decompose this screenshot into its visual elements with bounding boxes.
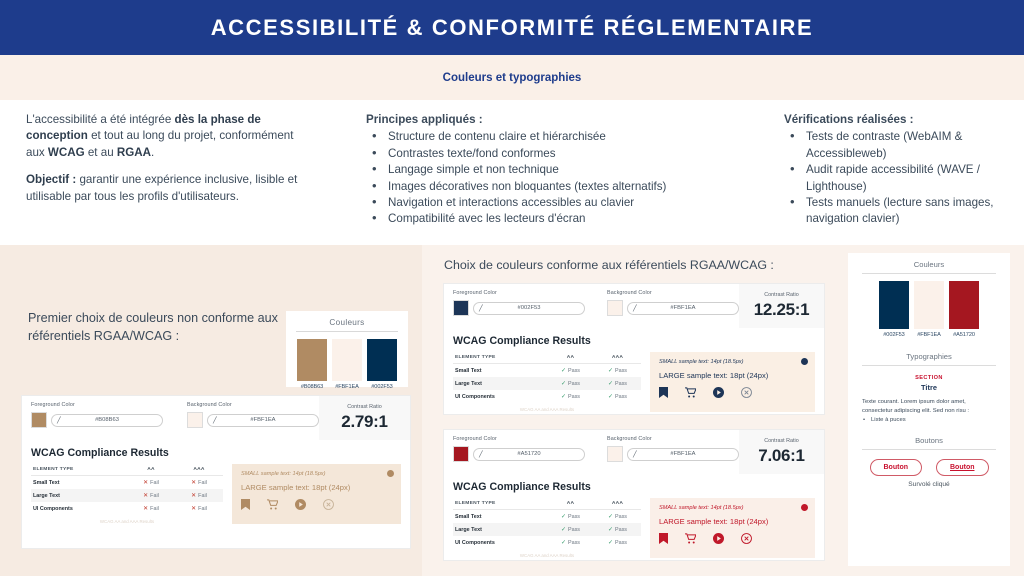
context-paragraph-2: Objectif : garantir une expérience inclu…: [26, 172, 311, 205]
pass-icon: ✓: [561, 381, 566, 387]
table-row: Small Text ✕Fail ✕Fail: [31, 476, 223, 490]
background-value: #FBF1EA: [628, 451, 738, 457]
sample-icon-row: [659, 387, 806, 398]
sample-large-text: LARGE sample text: 18pt (24px): [659, 371, 806, 380]
divider: [862, 449, 996, 450]
divider: [296, 331, 398, 332]
wcag-results-table: ELEMENT TYPE AA AAA Small Text ✓Pass ✓Pa…: [453, 498, 641, 549]
background-field-group: Background Color ╱ #FBF1EA: [607, 436, 739, 474]
principles-heading: Principes appliqués :: [366, 112, 766, 128]
background-input[interactable]: ╱ #FBF1EA: [627, 302, 739, 315]
close-circle-icon[interactable]: [741, 533, 752, 544]
button-default[interactable]: Bouton: [870, 459, 923, 476]
middle-panel-heading: Choix de couleurs conforme aux référenti…: [444, 258, 774, 272]
fail-icon: ✕: [191, 506, 196, 512]
contrast-ratio-label: Contrast Ratio: [764, 292, 798, 298]
wcag-results-table: ELEMENT TYPE AA AAA Small Text ✓Pass ✓Pa…: [453, 352, 641, 403]
intro-column-verifications: Vérifications réalisées : Tests de contr…: [784, 112, 1009, 228]
pass-icon: ✓: [608, 514, 613, 520]
results-title: WCAG Compliance Results: [453, 481, 815, 493]
list-item: Tests manuels (lecture sans images, navi…: [784, 195, 1009, 228]
row-aaa-result: ✓Pass: [594, 377, 641, 390]
verifications-heading: Vérifications réalisées :: [784, 112, 1009, 128]
col-header-aaa: AAA: [594, 498, 641, 510]
contrast-ratio-value: 12.25:1: [754, 300, 810, 320]
list-item: Langage simple et non technique: [366, 162, 766, 178]
row-aaa-result: ✕Fail: [175, 502, 223, 515]
row-element-type: UI Components: [453, 536, 547, 549]
table-row: Large Text ✓Pass ✓Pass: [453, 377, 641, 390]
swatch-hex-label: #002F53: [879, 332, 909, 338]
results-title: WCAG Compliance Results: [31, 447, 401, 459]
results-title: WCAG Compliance Results: [453, 335, 815, 347]
palette-swatch: #002F53: [367, 339, 397, 390]
cart-icon[interactable]: [685, 533, 696, 544]
table-row: Large Text ✕Fail ✕Fail: [31, 489, 223, 502]
table-footnote: WCAG AA and AAA Results: [31, 519, 223, 524]
ctx-p1-a: L'accessibilité a été intégrée: [26, 113, 175, 126]
sidebar-buttons-title: Boutons: [848, 436, 1010, 445]
background-field-group: Background Color ╱ #FBF1EA: [607, 290, 739, 328]
swatch-hex-label: #FBF1EA: [914, 332, 944, 338]
row-aaa-result: ✓Pass: [594, 536, 641, 549]
ctx-p1-d: .: [151, 146, 154, 159]
row-aaa-result: ✓Pass: [594, 390, 641, 403]
list-item: Images décoratives non bloquantes (texte…: [366, 179, 766, 195]
foreground-field-group: Foreground Color ╱ #B08B63: [31, 402, 163, 440]
page-title: ACCESSIBILITÉ & CONFORMITÉ RÉGLEMENTAIRE: [211, 15, 814, 41]
row-aaa-result: ✓Pass: [594, 510, 641, 524]
page-subtitle: Couleurs et typographies: [443, 72, 582, 84]
contrast-ratio-label: Contrast Ratio: [764, 438, 798, 444]
swatch-hex-label: #A51720: [949, 332, 979, 338]
sample-icon-row: [241, 499, 392, 510]
foreground-label: Foreground Color: [31, 402, 163, 408]
sample-large-text: LARGE sample text: 18pt (24px): [241, 483, 392, 492]
row-aa-result: ✓Pass: [547, 390, 594, 403]
ctx-p1-bold-3: RGAA: [117, 146, 151, 159]
list-item: Navigation et interactions accessibles a…: [366, 195, 766, 211]
fail-icon: ✕: [143, 480, 148, 486]
fail-icon: ✕: [191, 480, 196, 486]
typo-list-sample: Liste à puces: [862, 417, 996, 423]
contrast-checker-card-noncompliant: Foreground Color ╱ #B08B63 Background Co…: [22, 396, 410, 548]
background-label: Background Color: [607, 290, 739, 296]
intro-region: L'accessibilité a été intégrée dès la ph…: [0, 100, 1024, 245]
table-footnote: WCAG AA and AAA Results: [453, 553, 641, 558]
contrast-ratio-label: Contrast Ratio: [347, 404, 381, 410]
background-label: Background Color: [187, 402, 319, 408]
pass-icon: ✓: [561, 527, 566, 533]
foreground-input[interactable]: ╱ #002F53: [473, 302, 585, 315]
swatch-chip: [949, 281, 979, 329]
foreground-swatch[interactable]: [453, 300, 469, 316]
foreground-input[interactable]: ╱ #B08B63: [51, 414, 163, 427]
list-item: Tests de contraste (WebAIM & Accessiblew…: [784, 129, 1009, 162]
row-aa-result: ✓Pass: [547, 377, 594, 390]
col-header-aaa: AAA: [594, 352, 641, 364]
swatch-hex-label: #B08B63: [297, 384, 327, 390]
col-header-element-type: ELEMENT TYPE: [31, 464, 127, 476]
sidebar-typography-section: Typographies SECTION Titre Texte courant…: [848, 352, 1010, 423]
col-header-element-type: ELEMENT TYPE: [453, 352, 547, 364]
background-input[interactable]: ╱ #FBF1EA: [207, 414, 319, 427]
row-element-type: Large Text: [31, 489, 127, 502]
results-table-wrap: ELEMENT TYPE AA AAA Small Text ✕Fail ✕Fa…: [31, 464, 223, 524]
swatch-chip: [297, 339, 327, 381]
list-item: Contrastes texte/fond conformes: [366, 146, 766, 162]
contrast-checker-card-red: Foreground Color ╱ #A51720 Background Co…: [444, 430, 824, 560]
sample-small-text: SMALL sample text: 14pt (18.5px): [659, 505, 806, 511]
objectif-label: Objectif :: [26, 173, 76, 186]
sample-large-text: LARGE sample text: 18pt (24px): [659, 517, 806, 526]
pass-icon: ✓: [608, 368, 613, 374]
pass-icon: ✓: [608, 527, 613, 533]
pass-icon: ✓: [561, 394, 566, 400]
context-paragraph-1: L'accessibilité a été intégrée dès la ph…: [26, 112, 311, 161]
wcag-results-table: ELEMENT TYPE AA AAA Small Text ✕Fail ✕Fa…: [31, 464, 223, 515]
row-aaa-result: ✕Fail: [175, 476, 223, 490]
background-swatch[interactable]: [607, 446, 623, 462]
pass-icon: ✓: [608, 394, 613, 400]
play-circle-icon[interactable]: [713, 533, 724, 544]
info-dot-icon[interactable]: [387, 470, 394, 477]
bookmark-icon[interactable]: [659, 533, 668, 544]
results-table-wrap: ELEMENT TYPE AA AAA Small Text ✓Pass ✓Pa…: [453, 352, 641, 412]
checker-body: WCAG Compliance Results ELEMENT TYPE AA …: [444, 328, 824, 418]
row-aa-result: ✕Fail: [127, 476, 175, 490]
row-aa-result: ✓Pass: [547, 510, 594, 524]
palette-swatch: #B08B63: [297, 339, 327, 390]
row-aaa-result: ✓Pass: [594, 523, 641, 536]
checker-header: Foreground Color ╱ #B08B63 Background Co…: [22, 396, 410, 440]
foreground-value: #A51720: [474, 451, 584, 457]
sidebar-buttons-section: Boutons Bouton Bouton Survolé cliqué: [848, 436, 1010, 488]
fail-icon: ✕: [143, 493, 148, 499]
sidebar-typo-title: Typographies: [848, 352, 1010, 361]
background-swatch[interactable]: [187, 412, 203, 428]
close-circle-icon[interactable]: [323, 499, 334, 510]
sample-small-text: SMALL sample text: 14pt (18.5px): [659, 359, 806, 365]
table-row: UI Components ✓Pass ✓Pass: [453, 390, 641, 403]
row-element-type: UI Components: [453, 390, 547, 403]
col-header-aa: AA: [547, 498, 594, 510]
row-aa-result: ✕Fail: [127, 502, 175, 515]
col-header-aaa: AAA: [175, 464, 223, 476]
pass-icon: ✓: [561, 368, 566, 374]
style-guide-sidebar: Couleurs #002F53 #FBF1EA #A51720 Typogra…: [848, 253, 1010, 566]
sample-preview-box: SMALL sample text: 14pt (18.5px) LARGE s…: [650, 498, 815, 558]
table-row: Small Text ✓Pass ✓Pass: [453, 510, 641, 524]
col-header-aa: AA: [547, 352, 594, 364]
contrast-checker-card-navy: Foreground Color ╱ #002F53 Background Co…: [444, 284, 824, 414]
background-input[interactable]: ╱ #FBF1EA: [627, 448, 739, 461]
col-header-element-type: ELEMENT TYPE: [453, 498, 547, 510]
cart-icon[interactable]: [267, 499, 278, 510]
contrast-ratio-value: 7.06:1: [758, 446, 804, 466]
divider: [862, 273, 996, 274]
palette-swatch: #002F53: [879, 281, 909, 338]
col-header-aa: AA: [127, 464, 175, 476]
checker-header: Foreground Color ╱ #002F53 Background Co…: [444, 284, 824, 328]
fail-icon: ✕: [143, 506, 148, 512]
table-footnote: WCAG AA and AAA Results: [453, 407, 641, 412]
results-table-wrap: ELEMENT TYPE AA AAA Small Text ✓Pass ✓Pa…: [453, 498, 641, 558]
close-circle-icon[interactable]: [741, 387, 752, 398]
foreground-label: Foreground Color: [453, 290, 585, 296]
row-aa-result: ✓Pass: [547, 523, 594, 536]
typo-heading-sample: Titre: [862, 383, 996, 392]
verifications-list: Tests de contraste (WebAIM & Accessiblew…: [784, 129, 1009, 227]
foreground-swatch[interactable]: [453, 446, 469, 462]
palette-swatch: #FBF1EA: [332, 339, 362, 390]
checker-header: Foreground Color ╱ #A51720 Background Co…: [444, 430, 824, 474]
swatch-chip: [367, 339, 397, 381]
info-dot-icon[interactable]: [801, 358, 808, 365]
foreground-value: #002F53: [474, 305, 584, 311]
slide-title-bar: ACCESSIBILITÉ & CONFORMITÉ RÉGLEMENTAIRE: [0, 0, 1024, 55]
swatch-hex-label: #FBF1EA: [332, 384, 362, 390]
pass-icon: ✓: [561, 540, 566, 546]
row-element-type: Small Text: [31, 476, 127, 490]
typo-body-sample: Texte courant. Lorem ipsum dolor amet, c…: [862, 398, 996, 415]
bookmark-icon[interactable]: [241, 499, 250, 510]
palette-swatch: #FBF1EA: [914, 281, 944, 338]
play-circle-icon[interactable]: [713, 387, 724, 398]
info-dot-icon[interactable]: [801, 504, 808, 511]
background-swatch[interactable]: [607, 300, 623, 316]
play-circle-icon[interactable]: [295, 499, 306, 510]
background-value: #FBF1EA: [208, 417, 318, 423]
ctx-p1-c: et au: [85, 146, 117, 159]
intro-column-context: L'accessibilité a été intégrée dès la ph…: [26, 112, 311, 216]
row-element-type: Large Text: [453, 523, 547, 536]
sidebar-swatch-row: #002F53 #FBF1EA #A51720: [848, 281, 1010, 338]
contrast-ratio-block: Contrast Ratio 7.06:1: [739, 430, 824, 474]
row-aaa-result: ✓Pass: [594, 364, 641, 378]
cart-icon[interactable]: [685, 387, 696, 398]
button-hover-clicked[interactable]: Bouton: [936, 459, 989, 476]
background-field-group: Background Color ╱ #FBF1EA: [187, 402, 319, 440]
buttons-caption: Survolé cliqué: [848, 481, 1010, 488]
pass-icon: ✓: [608, 381, 613, 387]
table-row: Large Text ✓Pass ✓Pass: [453, 523, 641, 536]
contrast-ratio-block: Contrast Ratio 12.25:1: [739, 284, 824, 328]
pass-icon: ✓: [608, 540, 613, 546]
table-row: UI Components ✓Pass ✓Pass: [453, 536, 641, 549]
sample-icon-row: [659, 533, 806, 544]
row-aa-result: ✓Pass: [547, 364, 594, 378]
list-item: Audit rapide accessibilité (WAVE / Light…: [784, 162, 1009, 195]
foreground-value: #B08B63: [52, 417, 162, 423]
swatch-chip: [914, 281, 944, 329]
foreground-field-group: Foreground Color ╱ #002F53: [453, 290, 585, 328]
foreground-input[interactable]: ╱ #A51720: [473, 448, 585, 461]
contrast-ratio-value: 2.79:1: [341, 412, 387, 432]
bookmark-icon[interactable]: [659, 387, 668, 398]
foreground-label: Foreground Color: [453, 436, 585, 442]
checker-fields: Foreground Color ╱ #002F53 Background Co…: [444, 284, 739, 328]
row-aa-result: ✕Fail: [127, 489, 175, 502]
foreground-swatch[interactable]: [31, 412, 47, 428]
palette-title: Couleurs: [286, 318, 408, 327]
table-row: Small Text ✓Pass ✓Pass: [453, 364, 641, 378]
row-element-type: Large Text: [453, 377, 547, 390]
row-element-type: UI Components: [31, 502, 127, 515]
row-aaa-result: ✕Fail: [175, 489, 223, 502]
sample-small-text: SMALL sample text: 14pt (18.5px): [241, 471, 392, 477]
row-element-type: Small Text: [453, 510, 547, 524]
checker-fields: Foreground Color ╱ #B08B63 Background Co…: [22, 396, 319, 440]
swatch-chip: [879, 281, 909, 329]
table-row: UI Components ✕Fail ✕Fail: [31, 502, 223, 515]
sample-preview-box: SMALL sample text: 14pt (18.5px) LARGE s…: [650, 352, 815, 412]
swatch-hex-label: #002F53: [367, 384, 397, 390]
ctx-p1-bold-2: WCAG: [48, 146, 85, 159]
background-label: Background Color: [607, 436, 739, 442]
left-palette-card: Couleurs #B08B63 #FBF1EA #002F53: [286, 311, 408, 387]
background-value: #FBF1EA: [628, 305, 738, 311]
foreground-field-group: Foreground Color ╱ #A51720: [453, 436, 585, 474]
checker-body: WCAG Compliance Results ELEMENT TYPE AA …: [22, 440, 410, 530]
list-item: Compatibilité avec les lecteurs d'écran: [366, 211, 766, 227]
left-panel-caption: Premier choix de couleurs non conforme a…: [28, 309, 278, 345]
pass-icon: ✓: [561, 514, 566, 520]
principles-list: Structure de contenu claire et hiérarchi…: [366, 129, 766, 227]
slide: ACCESSIBILITÉ & CONFORMITÉ RÉGLEMENTAIRE…: [0, 0, 1024, 576]
sidebar-colors-title: Couleurs: [848, 260, 1010, 269]
typo-section-label: SECTION: [862, 375, 996, 381]
swatch-chip: [332, 339, 362, 381]
list-item: Structure de contenu claire et hiérarchi…: [366, 129, 766, 145]
checker-fields: Foreground Color ╱ #A51720 Background Co…: [444, 430, 739, 474]
fail-icon: ✕: [191, 493, 196, 499]
palette-swatch: #A51720: [949, 281, 979, 338]
intro-column-principles: Principes appliqués : Structure de conte…: [366, 112, 766, 228]
slide-subtitle-bar: Couleurs et typographies: [0, 55, 1024, 100]
palette-swatch-row: #B08B63 #FBF1EA #002F53: [286, 339, 408, 390]
checker-body: WCAG Compliance Results ELEMENT TYPE AA …: [444, 474, 824, 564]
row-aa-result: ✓Pass: [547, 536, 594, 549]
sample-preview-box: SMALL sample text: 14pt (18.5px) LARGE s…: [232, 464, 401, 524]
contrast-ratio-block: Contrast Ratio 2.79:1: [319, 396, 410, 440]
row-element-type: Small Text: [453, 364, 547, 378]
